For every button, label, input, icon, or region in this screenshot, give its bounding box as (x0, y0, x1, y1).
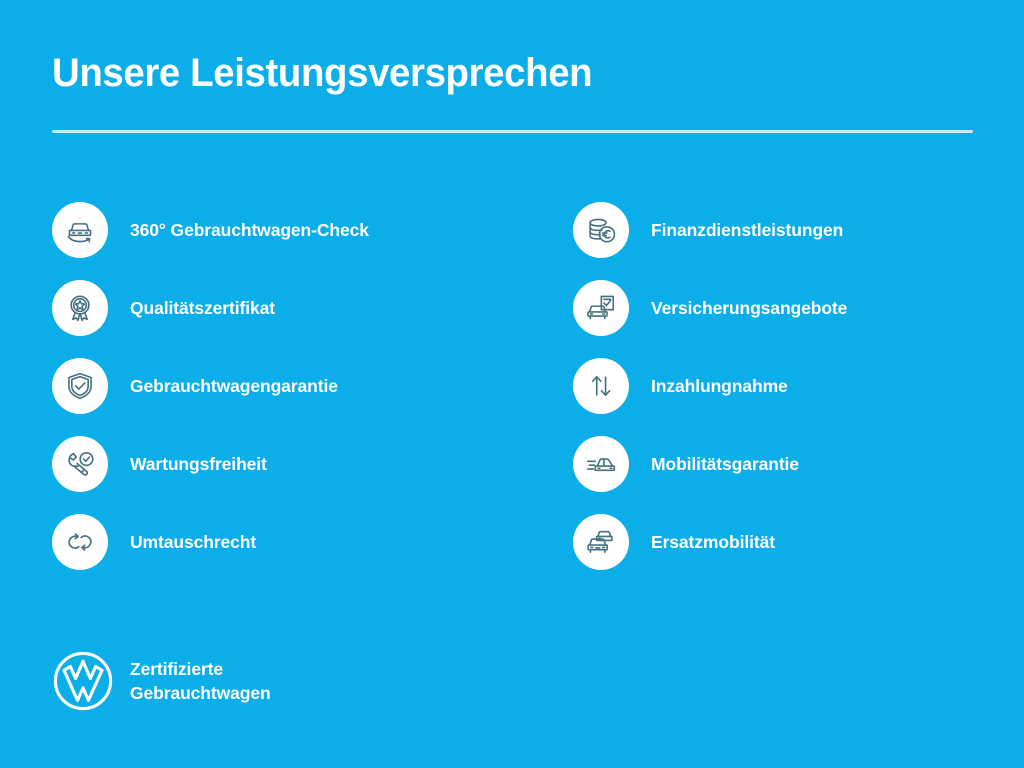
promise-label: Qualitätszertifikat (130, 297, 275, 319)
promise-label: Wartungsfreiheit (130, 453, 267, 475)
promise-item-gebrauchtwagen-check[interactable]: 360° Gebrauchtwagen-Check (52, 202, 522, 258)
brand-text-line1: Zertifizierte (130, 657, 271, 681)
car-360-check-icon (52, 202, 108, 258)
car-document-check-icon (573, 280, 629, 336)
promise-item-mobilitaetsgarantie[interactable]: Mobilitätsgarantie (573, 436, 1013, 492)
title-divider (52, 130, 973, 133)
up-down-arrows-icon (573, 358, 629, 414)
promise-item-umtauschrecht[interactable]: Umtauschrecht (52, 514, 522, 570)
coins-euro-icon (573, 202, 629, 258)
promise-label: 360° Gebrauchtwagen-Check (130, 219, 369, 241)
promise-item-wartungsfreiheit[interactable]: Wartungsfreiheit (52, 436, 522, 492)
promise-label: Inzahlungnahme (651, 375, 788, 397)
promise-item-gebrauchtwagengarantie[interactable]: Gebrauchtwagengarantie (52, 358, 522, 414)
page-title: Unsere Leistungsversprechen (52, 48, 936, 98)
promise-label: Gebrauchtwagengarantie (130, 375, 338, 397)
brand-text-line2: Gebrauchtwagen (130, 681, 271, 705)
shield-check-icon (52, 358, 108, 414)
car-motion-icon (573, 436, 629, 492)
promises-left-column: 360° Gebrauchtwagen-Check Qualitätszerti… (52, 202, 522, 570)
wrench-check-icon (52, 436, 108, 492)
promise-label: Versicherungsangebote (651, 297, 847, 319)
exchange-arrows-icon (52, 514, 108, 570)
brand-text: Zertifizierte Gebrauchtwagen (130, 657, 271, 705)
promise-label: Ersatzmobilität (651, 531, 775, 553)
promise-item-finanzdienstleistungen[interactable]: Finanzdienstleistungen (573, 202, 1013, 258)
promise-item-ersatzmobilitaet[interactable]: Ersatzmobilität (573, 514, 1013, 570)
promise-label: Umtauschrecht (130, 531, 256, 553)
promises-panel: Unsere Leistungsversprechen (0, 0, 1024, 768)
promise-item-inzahlungnahme[interactable]: Inzahlungnahme (573, 358, 1013, 414)
brand-footer: Zertifizierte Gebrauchtwagen (52, 650, 271, 712)
volkswagen-logo (52, 650, 114, 712)
promise-label: Mobilitätsgarantie (651, 453, 799, 475)
promise-item-qualitaetszertifikat[interactable]: Qualitätszertifikat (52, 280, 522, 336)
header: Unsere Leistungsversprechen (52, 48, 973, 98)
promises-right-column: Finanzdienstleistungen (573, 202, 1013, 570)
promise-item-versicherungsangebote[interactable]: Versicherungsangebote (573, 280, 1013, 336)
award-rosette-icon (52, 280, 108, 336)
promise-label: Finanzdienstleistungen (651, 219, 843, 241)
two-cars-icon (573, 514, 629, 570)
